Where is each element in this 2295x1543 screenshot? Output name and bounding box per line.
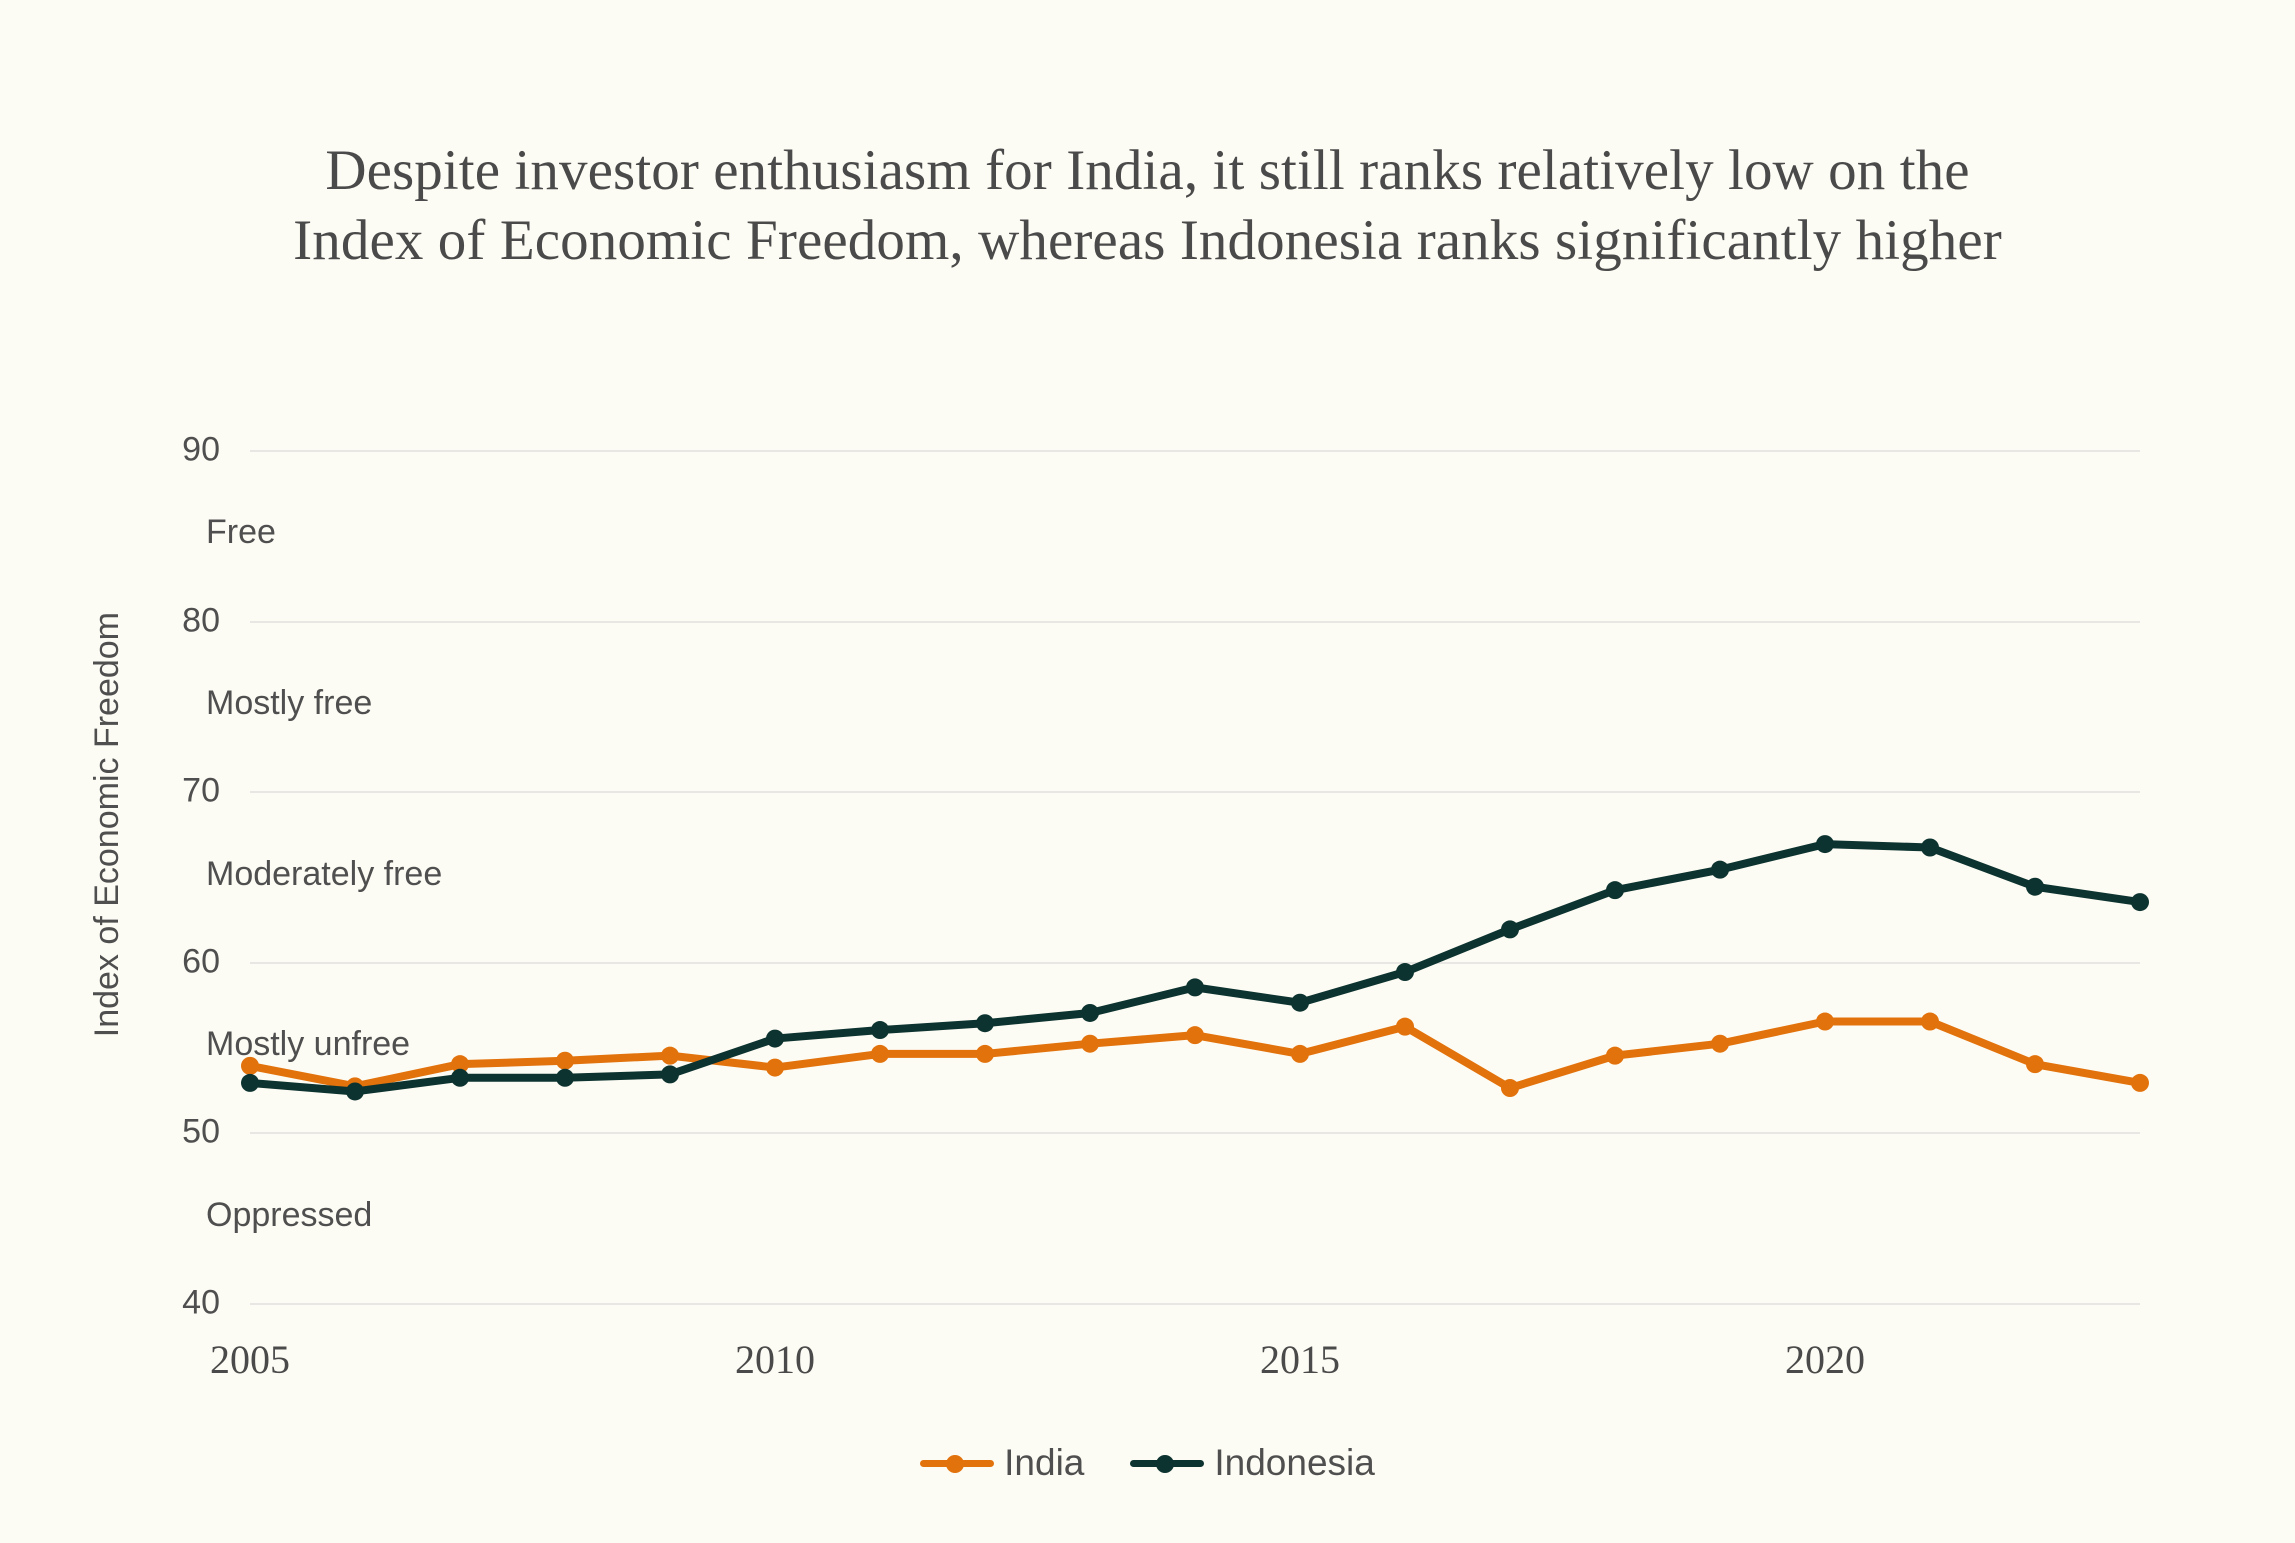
x-axis-tick-label: 2010 <box>735 1336 815 1383</box>
series-lines-group <box>250 450 2140 1303</box>
data-point-india[interactable] <box>871 1045 889 1063</box>
data-point-india[interactable] <box>1921 1013 1939 1031</box>
data-point-india[interactable] <box>2131 1074 2149 1092</box>
x-axis-tick-label: 2020 <box>1785 1336 1865 1383</box>
legend-line-icon-indonesia <box>1130 1449 1204 1477</box>
series-line-indonesia <box>250 844 2140 1091</box>
data-point-india[interactable] <box>766 1059 784 1077</box>
data-point-india[interactable] <box>1396 1018 1414 1036</box>
data-point-indonesia[interactable] <box>1396 963 1414 981</box>
legend-line-icon-india <box>920 1449 994 1477</box>
y-axis-tick-label: 60 <box>100 942 220 981</box>
data-point-indonesia[interactable] <box>346 1082 364 1100</box>
data-point-indonesia[interactable] <box>241 1074 259 1092</box>
data-point-indonesia[interactable] <box>2131 893 2149 911</box>
data-point-indonesia[interactable] <box>1816 835 1834 853</box>
data-point-india[interactable] <box>1186 1026 1204 1044</box>
legend-label-india: India <box>1004 1442 1084 1484</box>
y-axis-tick-label: 90 <box>100 431 220 470</box>
data-point-india[interactable] <box>1711 1035 1729 1053</box>
data-point-indonesia[interactable] <box>1501 920 1519 938</box>
x-axis-tick-label: 2005 <box>210 1336 290 1383</box>
data-point-indonesia[interactable] <box>1081 1004 1099 1022</box>
data-point-indonesia[interactable] <box>1606 881 1624 899</box>
y-axis-tick-label: 70 <box>100 772 220 811</box>
plot-area <box>250 450 2140 1303</box>
data-point-indonesia[interactable] <box>661 1065 679 1083</box>
gridline <box>250 1303 2140 1305</box>
legend-item-indonesia[interactable]: Indonesia <box>1130 1442 1374 1484</box>
data-point-india[interactable] <box>2026 1055 2044 1073</box>
data-point-indonesia[interactable] <box>1711 861 1729 879</box>
data-point-india[interactable] <box>661 1047 679 1065</box>
data-point-indonesia[interactable] <box>871 1021 889 1039</box>
chart-title-line-2: Index of Economic Freedom, whereas Indon… <box>60 206 2235 276</box>
data-point-india[interactable] <box>1606 1047 1624 1065</box>
legend-label-indonesia: Indonesia <box>1214 1442 1374 1484</box>
legend-item-india[interactable]: India <box>920 1442 1084 1484</box>
data-point-indonesia[interactable] <box>451 1069 469 1087</box>
band-label: Free <box>206 513 276 552</box>
data-point-india[interactable] <box>1501 1079 1519 1097</box>
data-point-indonesia[interactable] <box>1921 838 1939 856</box>
data-point-india[interactable] <box>1816 1013 1834 1031</box>
data-point-india[interactable] <box>976 1045 994 1063</box>
chart-legend: India Indonesia <box>0 1442 2295 1484</box>
data-point-indonesia[interactable] <box>556 1069 574 1087</box>
data-point-indonesia[interactable] <box>1291 994 1309 1012</box>
x-axis-tick-label: 2015 <box>1260 1336 1340 1383</box>
data-point-indonesia[interactable] <box>766 1030 784 1048</box>
y-axis-tick-label: 80 <box>100 601 220 640</box>
y-axis-tick-label: 40 <box>100 1284 220 1323</box>
chart-container: Despite investor enthusiasm for India, i… <box>0 0 2295 1543</box>
data-point-india[interactable] <box>556 1052 574 1070</box>
data-point-indonesia[interactable] <box>976 1014 994 1032</box>
band-label: Mostly free <box>206 684 372 723</box>
band-label: Moderately free <box>206 855 442 894</box>
data-point-india[interactable] <box>1291 1045 1309 1063</box>
data-point-indonesia[interactable] <box>1186 978 1204 996</box>
data-point-india[interactable] <box>1081 1035 1099 1053</box>
y-axis-tick-label: 50 <box>100 1113 220 1152</box>
chart-title: Despite investor enthusiasm for India, i… <box>0 136 2295 275</box>
chart-title-line-1: Despite investor enthusiasm for India, i… <box>60 136 2235 206</box>
data-point-indonesia[interactable] <box>2026 878 2044 896</box>
band-label: Oppressed <box>206 1196 372 1235</box>
band-label: Mostly unfree <box>206 1025 410 1064</box>
